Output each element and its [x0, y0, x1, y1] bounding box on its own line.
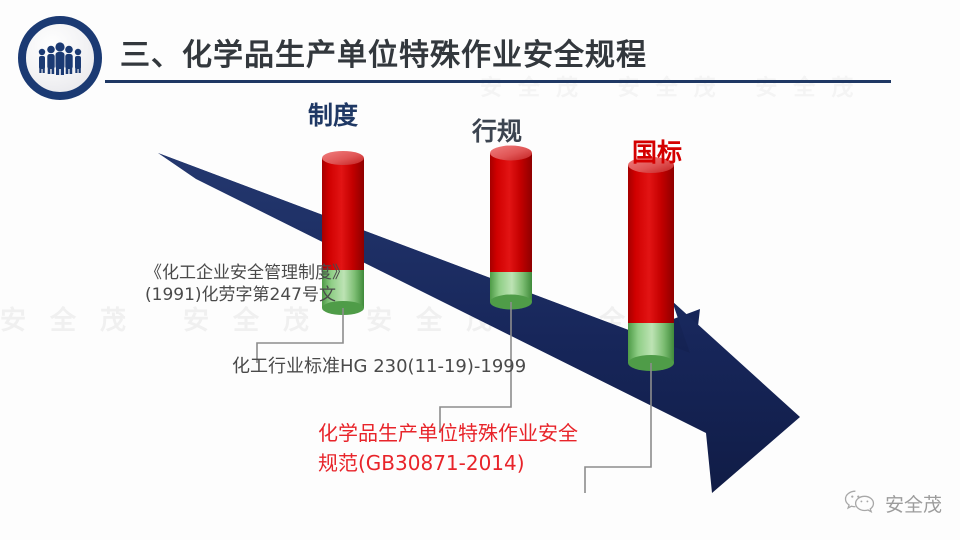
annotation-industry-standard: 化工行业标准HG 230(11-19)-1999: [232, 355, 526, 379]
annotation-institution-line1: 《化工企业安全管理制度》: [145, 262, 349, 284]
footer-watermark-label: 安全茂: [885, 490, 942, 517]
footer-watermark: 安全茂: [843, 489, 942, 518]
wechat-icon: [843, 489, 877, 518]
people-group-icon: [18, 16, 102, 100]
title-divider: [105, 80, 891, 83]
page-title: 三、化学品生产单位特殊作业安全规程: [120, 30, 647, 74]
annotation-national-standard: 化学品生产单位特殊作业安全 规范(GB30871-2014): [318, 418, 578, 478]
bar-label-guobiao: 国标: [632, 133, 682, 169]
annotation-national-standard-line2: 规范(GB30871-2014): [318, 448, 578, 478]
bar-label-hanggui: 行规: [472, 112, 522, 148]
annotation-institution: 《化工企业安全管理制度》 (1991)化劳字第247号文: [145, 262, 349, 307]
bar-cylinder-2: [490, 146, 532, 310]
annotation-national-standard-line1: 化学品生产单位特殊作业安全: [318, 418, 578, 448]
bar-label-zhidu: 制度: [308, 96, 358, 132]
annotation-institution-line2: (1991)化劳字第247号文: [145, 284, 349, 306]
bar-cylinder-3: [628, 157, 674, 371]
slide-canvas: 安全茂 安全茂 安全茂 安全茂 安全茂 安全茂 安全茂 三、化学品生产单位特殊作…: [0, 0, 960, 540]
